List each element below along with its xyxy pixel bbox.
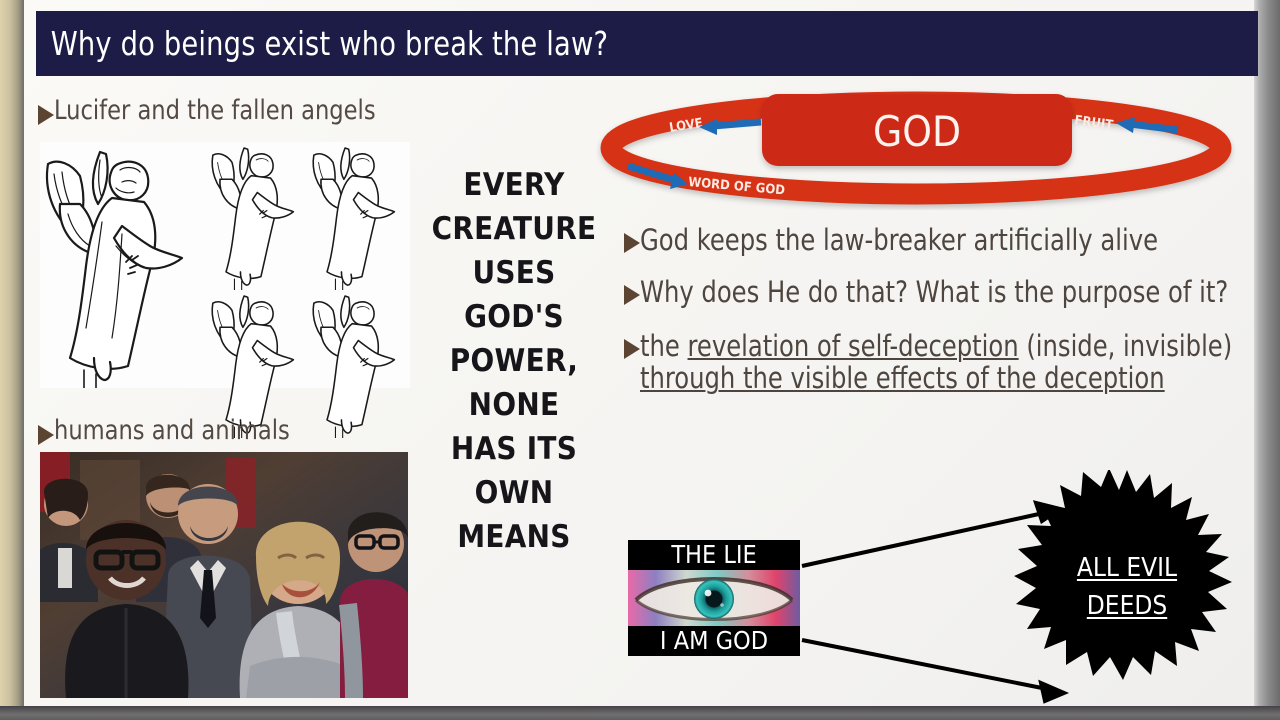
angel-figure-icon bbox=[309, 290, 410, 438]
god-ring-svg: GOD LOVE FRUIT WORD OF GOD bbox=[596, 86, 1236, 210]
bullet-why-purpose: Why does He do that? What is the purpose… bbox=[624, 276, 1273, 308]
angel-small-2 bbox=[309, 142, 410, 290]
bullet-god-keeps-alive-label: God keeps the law-breaker artificially a… bbox=[640, 224, 1158, 256]
bullet-humans-label: humans and animals bbox=[54, 416, 290, 446]
bullet-revelation-label: the revelation of self-deception (inside… bbox=[640, 330, 1272, 395]
god-center-label: GOD bbox=[873, 107, 961, 156]
bullet-lucifer: Lucifer and the fallen angels bbox=[38, 96, 400, 126]
triangle-bullet-icon bbox=[38, 105, 54, 125]
slide-left-border bbox=[0, 0, 24, 720]
angel-large bbox=[40, 142, 208, 388]
people-photo bbox=[40, 452, 408, 698]
page-title: Why do beings exist who break the law? bbox=[36, 24, 608, 63]
all-evil-deeds-burst: ALL EVIL DEEDS bbox=[1014, 470, 1240, 705]
the-lie-card: THE LIE bbox=[628, 540, 800, 656]
slide-bottom-border bbox=[0, 706, 1280, 720]
angel-small-grid bbox=[208, 142, 410, 388]
slogan-line: POWER, bbox=[430, 339, 598, 383]
bullet-revelation: the revelation of self-deception (inside… bbox=[624, 330, 1280, 395]
triangle-bullet-icon bbox=[624, 339, 640, 359]
the-lie-top-label: THE LIE bbox=[628, 540, 800, 570]
slogan-line: NONE bbox=[430, 383, 598, 427]
colorful-eye-icon bbox=[628, 570, 800, 626]
revelation-lead: the bbox=[640, 329, 688, 363]
slogan-line: HAS ITS bbox=[430, 427, 598, 471]
i-am-god-label: I AM GOD bbox=[628, 626, 800, 656]
revelation-middle: (inside, invisible) bbox=[1019, 329, 1233, 363]
angel-figure-icon bbox=[208, 142, 309, 290]
angel-figure-icon bbox=[309, 142, 410, 290]
bullet-why-purpose-label: Why does He do that? What is the purpose… bbox=[640, 276, 1228, 308]
slogan-line: CREATURE bbox=[430, 207, 598, 251]
angel-small-1 bbox=[208, 142, 309, 290]
triangle-bullet-icon bbox=[38, 425, 54, 445]
center-slogan: EVERY CREATURE USES GOD'S POWER, NONE HA… bbox=[430, 163, 598, 559]
group-of-people-image bbox=[40, 452, 408, 698]
angels-illustration bbox=[40, 142, 410, 388]
slogan-line: GOD'S bbox=[430, 295, 598, 339]
triangle-bullet-icon bbox=[624, 285, 640, 305]
eye-image bbox=[628, 570, 800, 626]
revelation-underline-2: through the visible effects of the decep… bbox=[640, 361, 1165, 395]
bullet-god-keeps-alive: God keeps the law-breaker artificially a… bbox=[624, 224, 1197, 256]
god-ring-diagram: GOD LOVE FRUIT WORD OF GOD bbox=[596, 86, 1236, 210]
starburst-shape-icon bbox=[1014, 470, 1240, 705]
slogan-line: OWN bbox=[430, 471, 598, 515]
triangle-bullet-icon bbox=[624, 233, 640, 253]
angel-figure-icon bbox=[40, 142, 208, 388]
revelation-underline-1: revelation of self-deception bbox=[688, 329, 1019, 363]
bullet-humans-animals: humans and animals bbox=[38, 416, 308, 446]
presentation-slide: Why do beings exist who break the law? L… bbox=[0, 0, 1280, 720]
slide-title-bar: Why do beings exist who break the law? bbox=[36, 11, 1258, 76]
slogan-line: MEANS bbox=[430, 515, 598, 559]
bullet-lucifer-label: Lucifer and the fallen angels bbox=[54, 96, 376, 126]
angel-small-4 bbox=[309, 290, 410, 438]
slogan-line: EVERY bbox=[430, 163, 598, 207]
slogan-line: USES bbox=[430, 251, 598, 295]
